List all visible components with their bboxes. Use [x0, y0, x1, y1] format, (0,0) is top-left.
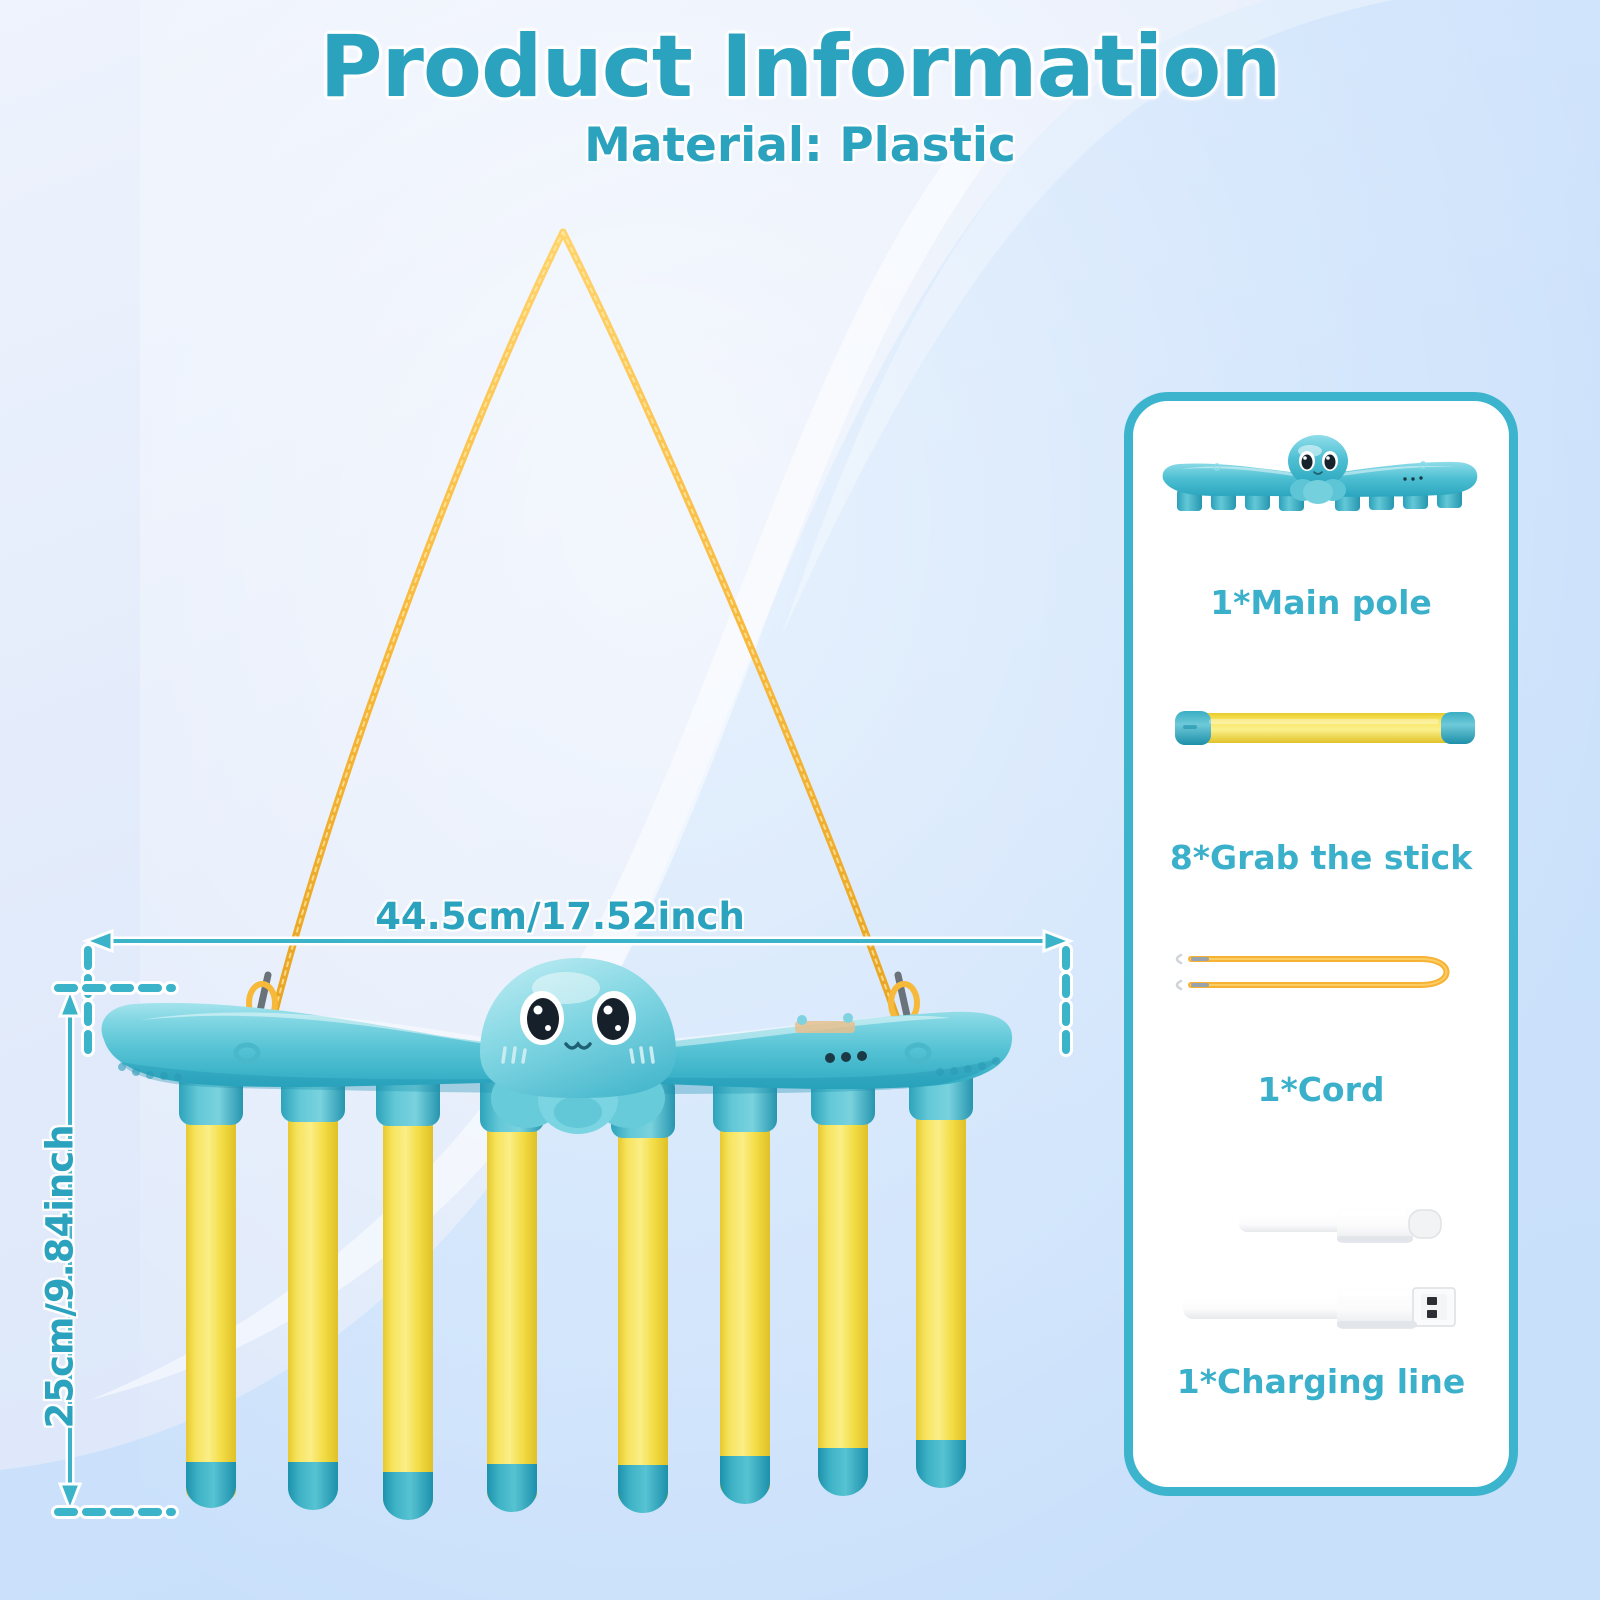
grab-stick	[916, 1094, 966, 1488]
cord-loop-icon	[1163, 939, 1483, 1009]
package-item-label-charging-line: 1*Charging line	[1133, 1365, 1509, 1398]
width-dimension-label: 44.5cm/17.52inch	[0, 895, 1120, 938]
yellow-stick-icon	[1169, 697, 1479, 757]
package-item-label-grab-stick: 8*Grab the stick	[1133, 841, 1509, 874]
usb-c-connector	[1239, 1205, 1441, 1243]
octopus-head	[480, 958, 676, 1134]
usb-a-connector	[1183, 1285, 1455, 1329]
usb-charging-cable-icon	[1159, 1187, 1489, 1357]
grab-stick	[720, 1105, 770, 1504]
product-infographic: Product Information Material: Plastic	[0, 0, 1600, 1600]
height-dimension-label: 25cm/9.84inch	[39, 1112, 82, 1442]
grab-stick	[288, 1096, 338, 1510]
grab-stick-group	[186, 1094, 966, 1520]
grab-stick	[186, 1100, 236, 1508]
octopus-pole-icon	[1155, 431, 1485, 541]
package-contents-panel: 1*Main pole 8*Grab the stick	[1124, 392, 1518, 1496]
product-illustration	[0, 0, 1120, 1600]
grab-stick	[618, 1112, 668, 1513]
package-item-label-main-pole: 1*Main pole	[1133, 586, 1509, 619]
package-item-label-cord: 1*Cord	[1133, 1073, 1509, 1106]
grab-stick	[487, 1105, 537, 1512]
grab-stick	[818, 1098, 868, 1496]
grab-stick	[383, 1100, 433, 1520]
